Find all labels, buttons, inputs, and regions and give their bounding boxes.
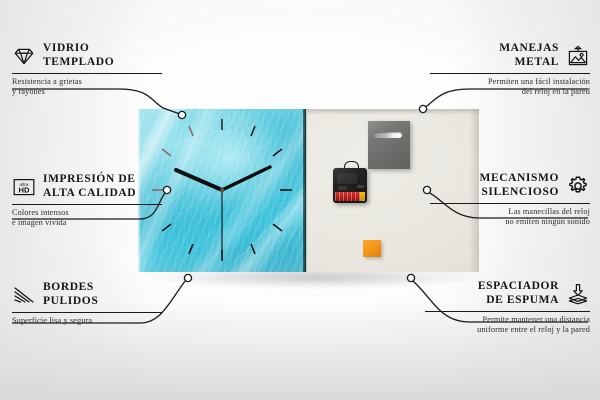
callout-divider	[430, 73, 590, 74]
mechanism-detail	[357, 185, 364, 188]
callout-title: BORDES	[43, 281, 98, 295]
callout-title-2: METAL	[499, 56, 559, 70]
callout-title-2: TEMPLADO	[43, 56, 114, 70]
callout-divider	[430, 203, 590, 204]
callout-desc-1: Colores intensos	[12, 208, 162, 219]
foam-spacer-part	[363, 240, 381, 257]
callout-divider	[12, 204, 162, 205]
metal-hanger-plate	[368, 121, 410, 169]
callout-desc-1: Resistencia a grietas	[12, 77, 162, 88]
callout-desc-1: Superficie lisa y segura	[12, 316, 162, 327]
callout-foam-spacer: ESPACIADOR DE ESPUMA Permite mantener un…	[425, 280, 590, 336]
callout-desc-2: no emiten ningún sonido	[430, 217, 590, 228]
ultra-hd-icon: ultra HD	[12, 175, 36, 199]
callout-title-2: PULIDOS	[43, 295, 98, 309]
callout-high-quality-print: ultra HD IMPRESIÓN DE ALTA CALIDAD Color…	[12, 173, 162, 229]
clock-front-face	[138, 109, 306, 272]
callout-desc-2: e imagen vívida	[12, 218, 162, 229]
mechanism-detail	[338, 186, 347, 190]
callout-desc-2: uniforme entre el reloj y la pared	[425, 325, 590, 336]
callout-tempered-glass: VIDRIO TEMPLADO Resistencia a grietas y …	[12, 42, 162, 98]
diamond-icon	[12, 44, 36, 68]
product-image	[138, 109, 478, 272]
back-panel-top-shade	[307, 109, 479, 115]
callout-divider	[425, 311, 590, 312]
callout-divider	[12, 312, 162, 313]
mechanism-detail	[337, 173, 357, 184]
mechanism-body	[333, 168, 367, 203]
glass-sheen-overlay	[138, 109, 306, 272]
svg-text:HD: HD	[19, 185, 30, 194]
callout-title: MECANISMO	[479, 172, 559, 186]
gear-icon	[566, 174, 590, 198]
callout-metal-hooks: MANEJAS METAL Permiten una fácil instala…	[430, 42, 590, 98]
callout-silent-mechanism: MECANISMO SILENCIOSO Las manecillas del …	[430, 172, 590, 228]
battery-terminal	[360, 192, 365, 201]
foam-spacer-arrow-icon	[566, 282, 590, 306]
callout-desc-2: y rayones	[12, 87, 162, 98]
clock-mechanism	[333, 165, 367, 203]
callout-desc-2: del reloj en la pared	[430, 87, 590, 98]
callout-title: IMPRESIÓN DE	[43, 173, 136, 187]
callout-title: VIDRIO	[43, 42, 114, 56]
callout-polished-edges: BORDES PULIDOS Superficie lisa y segura	[12, 281, 162, 326]
callout-desc-1: Permite mantener una distancia	[425, 315, 590, 326]
callout-desc-1: Las manecillas del reloj	[430, 207, 590, 218]
callout-divider	[12, 73, 162, 74]
framed-picture-hanging-icon	[566, 44, 590, 68]
callout-title-2: ALTA CALIDAD	[43, 187, 136, 201]
callout-title-2: DE ESPUMA	[478, 294, 559, 308]
callout-title: MANEJAS	[499, 42, 559, 56]
hanger-slot	[374, 132, 402, 138]
infographic-canvas: VIDRIO TEMPLADO Resistencia a grietas y …	[0, 0, 600, 400]
callout-title-2: SILENCIOSO	[479, 186, 559, 200]
callout-title: ESPACIADOR	[478, 280, 559, 294]
polished-edge-icon	[12, 283, 36, 307]
callout-desc-1: Permiten una fácil instalación	[430, 77, 590, 88]
